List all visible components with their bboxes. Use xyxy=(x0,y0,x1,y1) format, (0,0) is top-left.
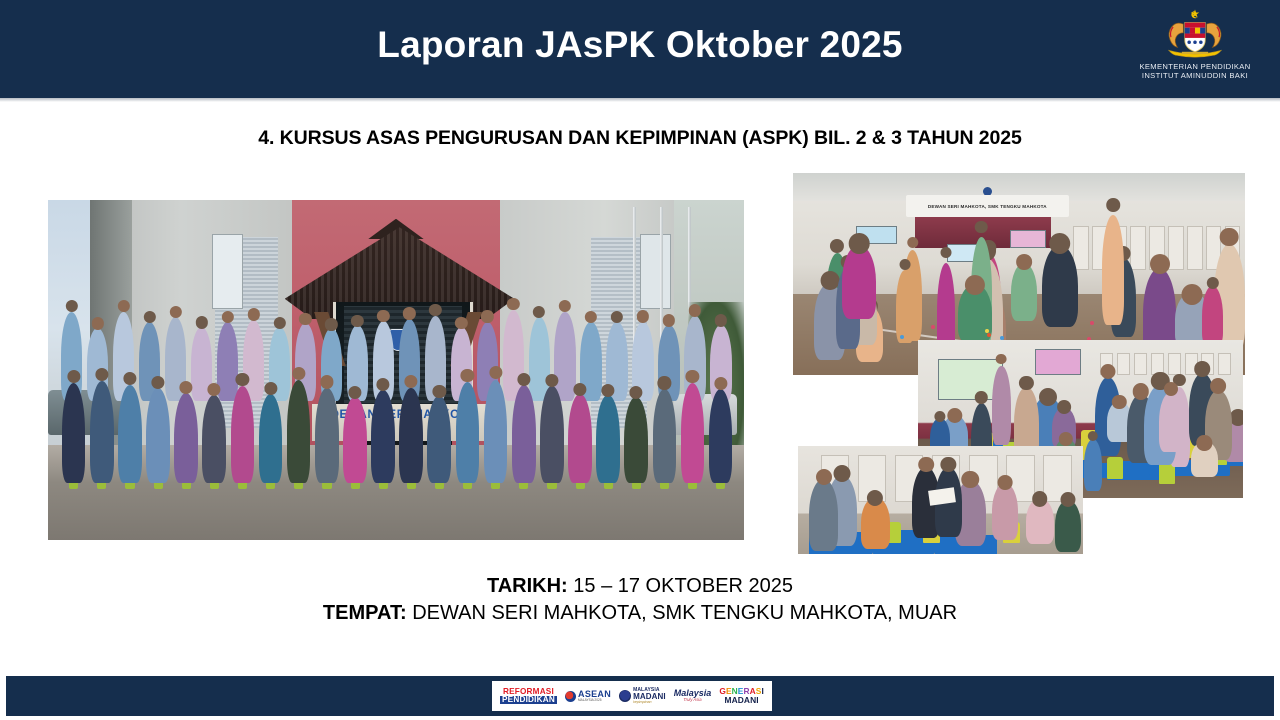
person xyxy=(992,366,1011,445)
caption-date-label: TARIKH: xyxy=(487,575,568,597)
person-head xyxy=(975,221,988,234)
person-head xyxy=(377,310,389,322)
person-head xyxy=(1220,228,1239,247)
person-head xyxy=(1087,431,1097,441)
person-head xyxy=(941,457,956,472)
person-head xyxy=(273,317,285,329)
person-head xyxy=(405,375,418,388)
person-head xyxy=(95,368,108,381)
person-head xyxy=(816,469,832,485)
wall-panel xyxy=(1168,226,1183,270)
activity-ball xyxy=(900,335,904,339)
person-head xyxy=(899,259,910,270)
person-seated xyxy=(146,388,170,483)
plastic-chair xyxy=(1107,457,1123,480)
person-head xyxy=(151,376,164,389)
person xyxy=(1084,439,1102,491)
header-shadow xyxy=(0,98,1280,102)
wall-panel xyxy=(1073,226,1088,270)
person-head xyxy=(264,382,277,395)
asean-spiral-icon xyxy=(565,691,576,702)
person-head xyxy=(376,378,389,391)
person-head xyxy=(325,318,337,330)
logo-madani-line3: kepimpinan xyxy=(633,701,666,705)
logo-truly-line2: Truly Asia xyxy=(683,698,701,702)
person-head xyxy=(1106,198,1120,212)
logo-reformasi-line2: PENDIDIKAN xyxy=(500,696,557,704)
person-head xyxy=(601,384,614,397)
ministry-logo: KEMENTERIAN PENDIDIKAN INSTITUT AMINUDDI… xyxy=(1120,8,1270,92)
person-head xyxy=(1060,492,1075,507)
person-head xyxy=(348,386,361,399)
person-head xyxy=(1164,382,1178,396)
person-head xyxy=(1039,388,1057,406)
wall-monitor xyxy=(1035,349,1081,374)
logo-malaysia-madani: MALAYSIA MADANI kepimpinan xyxy=(619,688,666,705)
page-title: Laporan JAsPK Oktober 2025 xyxy=(0,24,1280,66)
person-head xyxy=(820,271,839,290)
person-seated xyxy=(399,388,423,484)
person-head xyxy=(247,308,259,320)
person-head xyxy=(637,310,649,322)
section-title: 4. KURSUS ASAS PENGURUSAN DAN KEPIMPINAN… xyxy=(0,127,1280,150)
person-seated xyxy=(174,393,198,484)
person-head xyxy=(689,304,701,316)
person-head xyxy=(1210,378,1226,394)
person-head xyxy=(1133,383,1150,400)
person-head xyxy=(1197,435,1212,450)
person-head xyxy=(849,233,870,254)
person-head xyxy=(533,306,545,318)
person-head xyxy=(144,311,156,323)
person xyxy=(809,479,838,551)
person-seated xyxy=(259,394,283,484)
person xyxy=(861,497,890,549)
person-head xyxy=(585,311,597,323)
wall-panel xyxy=(1130,226,1145,270)
person-head xyxy=(573,383,586,396)
person-head xyxy=(1032,491,1048,507)
person-head xyxy=(630,386,643,399)
person-head xyxy=(686,370,699,383)
person-head xyxy=(208,383,221,396)
caption-date-value: 15 – 17 OKTOBER 2025 xyxy=(573,575,793,597)
footer-logo-strip: REFORMASI PENDIDIKAN ASEAN MALAYSIA 2025… xyxy=(492,681,772,711)
person-head xyxy=(221,311,233,323)
person-head xyxy=(833,465,850,482)
person-head xyxy=(941,247,952,258)
person-head xyxy=(461,369,474,382)
logo-generasi-madani: GENERASI MADANI xyxy=(719,687,764,704)
person-head xyxy=(180,381,193,394)
person-head xyxy=(299,313,311,325)
person-head xyxy=(1049,233,1071,255)
person-head xyxy=(947,408,962,423)
person-head xyxy=(998,475,1013,490)
person-head xyxy=(489,366,502,379)
person-head xyxy=(1112,395,1126,409)
person-head xyxy=(545,374,558,387)
wall-panel xyxy=(1187,226,1202,270)
caption-place-line: TEMPAT: DEWAN SERI MAHKOTA, SMK TENGKU M… xyxy=(0,600,1280,627)
person-head xyxy=(320,375,333,388)
person-head xyxy=(67,370,80,383)
malaysia-coat-of-arms-icon xyxy=(1151,8,1239,62)
person-seated xyxy=(681,383,705,483)
person-head xyxy=(1182,284,1203,305)
madani-emblem-icon xyxy=(619,690,631,702)
person-seated xyxy=(371,390,395,483)
caption-place-label: TEMPAT: xyxy=(323,602,407,624)
person-seated xyxy=(90,381,114,483)
person-seated xyxy=(118,385,142,483)
logo-reformasi-pendidikan: REFORMASI PENDIDIKAN xyxy=(500,688,557,705)
person-head xyxy=(663,314,675,326)
person-head xyxy=(236,373,249,386)
person-seated xyxy=(343,397,367,483)
person-head xyxy=(715,314,727,326)
person-head xyxy=(658,376,671,389)
person xyxy=(1042,245,1078,327)
person-head xyxy=(403,307,415,319)
person xyxy=(1055,500,1082,552)
person-head xyxy=(1016,254,1032,270)
person-head xyxy=(1057,400,1071,414)
group-photo-dewan-seri-mahkota: DEWAN SERI MAHKOTA xyxy=(48,200,744,540)
person-head xyxy=(507,298,519,310)
person-seated xyxy=(653,389,677,484)
crowd-front-row xyxy=(58,339,733,492)
person xyxy=(896,270,914,343)
caption-date-line: TARIKH: 15 – 17 OKTOBER 2025 xyxy=(0,573,1280,600)
person-head xyxy=(351,315,363,327)
person xyxy=(1026,498,1054,545)
person-head xyxy=(169,306,181,318)
ministry-logo-line2: INSTITUT AMINUDDIN BAKI xyxy=(1139,72,1250,81)
ministry-logo-text: KEMENTERIAN PENDIDIKAN INSTITUT AMINUDDI… xyxy=(1139,63,1250,81)
person-seated xyxy=(709,389,733,483)
person xyxy=(1102,215,1125,325)
person-head xyxy=(559,300,571,312)
person-seated xyxy=(596,395,620,483)
person-head xyxy=(433,385,446,398)
person-seated xyxy=(202,395,226,484)
person-head xyxy=(455,317,467,329)
person-head xyxy=(962,471,980,489)
person-seated xyxy=(315,388,339,484)
logo-asean: ASEAN MALAYSIA 2025 xyxy=(565,690,611,702)
person-head xyxy=(429,304,441,316)
person-head xyxy=(611,311,623,323)
person-head xyxy=(481,310,493,322)
hall-screen-right xyxy=(1010,230,1046,248)
person-head xyxy=(934,411,945,422)
person-seated xyxy=(287,380,311,483)
person-head xyxy=(1059,432,1073,446)
hall-banner-text: DEWAN SERI MAHKOTA, SMK TENGKU MAHKOTA xyxy=(928,204,1047,209)
certificate-handover-photo xyxy=(798,446,1083,554)
logo-generasi-line2: MADANI xyxy=(725,696,759,705)
person-head xyxy=(292,367,305,380)
person-seated xyxy=(231,386,255,483)
person-head xyxy=(517,373,530,386)
person-seated xyxy=(62,383,86,484)
person xyxy=(842,245,876,319)
wall-panel xyxy=(1168,353,1181,375)
caption-place-value: DEWAN SERI MAHKOTA, SMK TENGKU MAHKOTA, … xyxy=(412,602,957,624)
person xyxy=(1011,263,1037,321)
person-head xyxy=(66,300,78,312)
person xyxy=(992,483,1018,540)
person-seated xyxy=(427,396,451,483)
caption-block: TARIKH: 15 – 17 OKTOBER 2025 TEMPAT: DEW… xyxy=(0,573,1280,627)
person-head xyxy=(1195,361,1211,377)
person-head xyxy=(1150,254,1170,274)
person-seated xyxy=(540,386,564,483)
logo-asean-line2: MALAYSIA 2025 xyxy=(578,699,611,702)
wall-panel xyxy=(1117,353,1130,375)
person-seated xyxy=(624,397,648,483)
person-head xyxy=(118,300,130,312)
person-seated xyxy=(512,385,536,483)
wall-panel xyxy=(1134,353,1147,375)
slide: Laporan JAsPK Oktober 2025 xyxy=(0,0,1280,720)
person-head xyxy=(92,317,104,329)
person-seated xyxy=(484,380,508,484)
person-head xyxy=(714,377,727,390)
person-head xyxy=(918,457,934,473)
person-head xyxy=(195,316,207,328)
hall-banner: DEWAN SERI MAHKOTA, SMK TENGKU MAHKOTA xyxy=(906,195,1069,217)
person-head xyxy=(965,275,985,295)
person xyxy=(1191,441,1217,477)
person-seated xyxy=(568,394,592,483)
person xyxy=(1202,286,1223,346)
person-head xyxy=(123,372,136,385)
logo-malaysia-truly-asia: Malaysia Truly Asia xyxy=(674,689,712,702)
person-head xyxy=(996,354,1007,365)
person-head xyxy=(867,490,883,506)
wall-panel xyxy=(1218,353,1231,375)
person xyxy=(1159,392,1183,452)
person-seated xyxy=(456,382,480,483)
